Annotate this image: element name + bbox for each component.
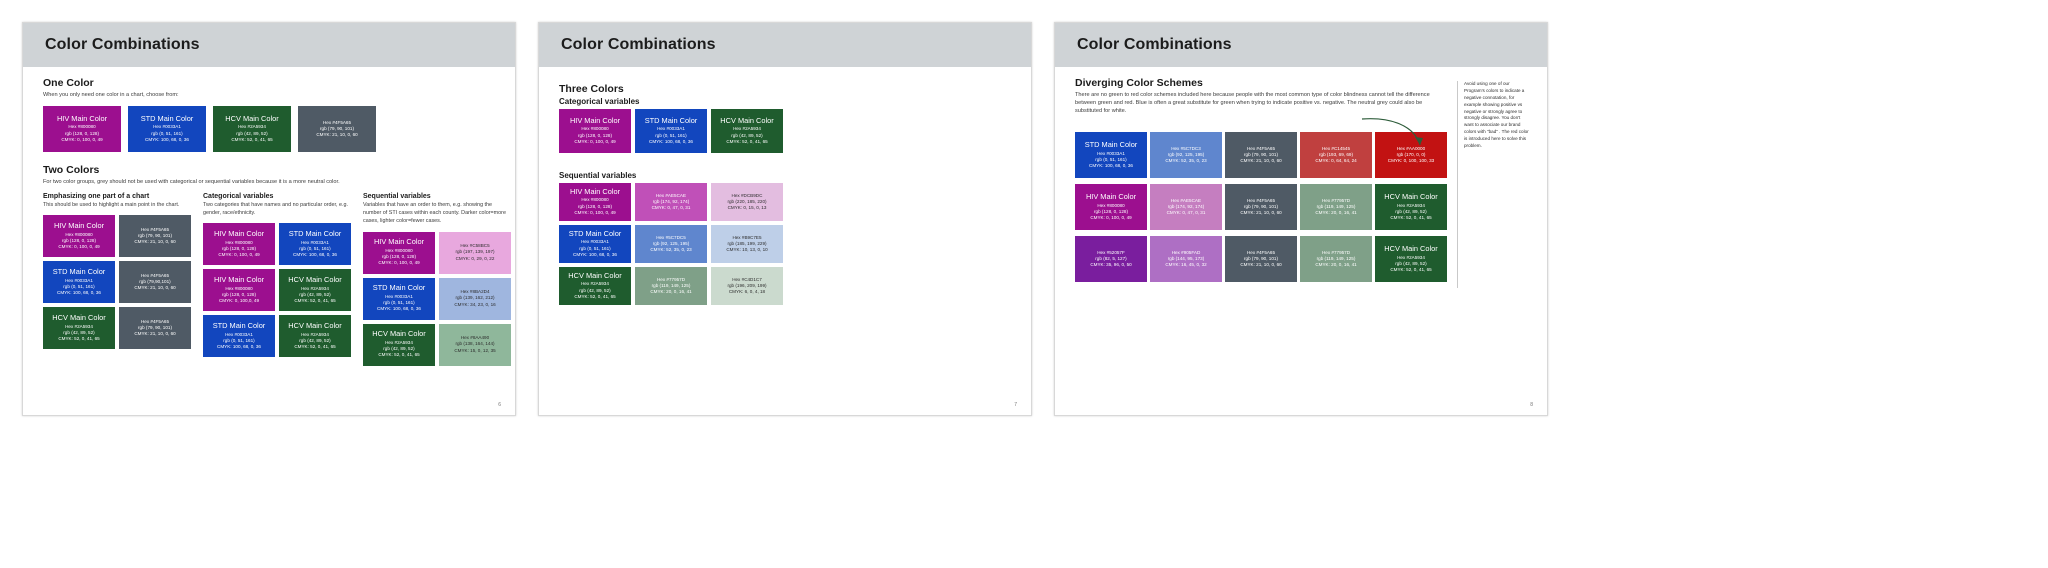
swatch-cmyk: CMYK: 0, 100,0, 49	[219, 298, 259, 304]
swatch-cmyk: CMYK: 52, 0, 41, 65	[726, 139, 767, 145]
swatch-cmyk: CMYK: 0, 47, 0, 31	[652, 205, 691, 211]
color-swatch: HCV Main ColorHex #2A5934rgb (42, 89, 52…	[711, 109, 783, 153]
color-swatch: HCV Main ColorHex #2A5934rgb (42, 89, 52…	[363, 324, 435, 366]
page-title: Color Combinations	[1077, 36, 1232, 54]
swatch-cmyk: CMYK: 100, 68, 0, 36	[649, 139, 693, 145]
swatch-cmyk: CMYK: 21, 10, 0, 60	[134, 239, 175, 245]
swatch-name: HIV Main Color	[214, 276, 264, 285]
swatch-name: HIV Main Color	[214, 230, 264, 239]
section-heading-three-colors: Three Colors	[559, 83, 1013, 95]
column-note: Variables that have an order to them, e.…	[363, 201, 511, 225]
swatch-pair: HIV Main ColorHex #800080rgb (128, 0, 12…	[203, 223, 351, 265]
swatch-name: STD Main Color	[289, 230, 342, 239]
swatch-pair: HIV Main ColorHex #800080rgb (128, 0, 12…	[363, 232, 511, 274]
swatch-cmyk: CMYK: 15, 0, 12, 35	[454, 348, 495, 354]
swatch-cmyk: CMYK: 0, 47, 0, 31	[1167, 210, 1206, 216]
three-colors-categorical-row: HIV Main ColorHex #800080rgb (128, 0, 12…	[559, 109, 1013, 153]
column-heading: Sequential variables	[363, 193, 511, 200]
slide-body: One Color When you only need one color i…	[23, 67, 515, 370]
column-note: This should be used to highlight a main …	[43, 201, 191, 209]
slide-title-band: Color Combinations	[1055, 23, 1547, 67]
color-swatch: HCV Main ColorHex #2A5934rgb (42, 89, 52…	[279, 315, 351, 357]
color-swatch: STD Main ColorHex #0033A1rgb (0, 51, 161…	[559, 225, 631, 263]
swatch-cmyk: CMYK: 0, 64, 64, 24	[1315, 158, 1356, 164]
section-heading-two-colors: Two Colors	[43, 164, 497, 176]
color-swatch: Hex #4F5A65rgb (79, 90, 101)CMYK: 21, 10…	[119, 307, 191, 349]
color-swatch: Hex #77957Drgb (119, 149, 125)CMYK: 20, …	[1300, 184, 1372, 230]
swatch-name: HIV Main Color	[374, 238, 424, 247]
color-swatch: HIV Main ColorHex #800080rgb (128, 0, 12…	[559, 183, 631, 221]
swatch-cmyk: CMYK: 52, 0, 41, 65	[1390, 267, 1431, 273]
color-swatch: HCV Main ColorHex #2A5934rgb (42, 89, 52…	[43, 307, 115, 349]
color-swatch: Hex #4F5A65rgb (79, 90, 101)CMYK: 21, 10…	[119, 215, 191, 257]
section-note-diverging: There are no green to red color schemes …	[1075, 91, 1447, 115]
color-swatch: Hex #77957Drgb (119, 149, 125)CMYK: 20, …	[1300, 236, 1372, 282]
swatch-pair: HIV Main ColorHex #800080rgb (128, 0, 12…	[43, 215, 191, 257]
callout-text: Avoid using one of our Program's colors …	[1457, 81, 1529, 288]
color-swatch: Hex #4F5A65rgb (79, 90, 101)CMYK: 21, 10…	[1225, 184, 1297, 230]
color-swatch: Hex #77957Drgb (119, 149, 125)CMYK: 20, …	[635, 267, 707, 305]
color-swatch: HIV Main ColorHex #800080rgb (128, 0, 12…	[43, 106, 121, 152]
swatch-name: STD Main Color	[1085, 141, 1138, 150]
color-swatch: Hex #C4D1C7rgb (196, 209, 199)CMYK: 6, 0…	[711, 267, 783, 305]
page-title: Color Combinations	[561, 36, 716, 54]
swatch-cmyk: CMYK: 0, 100, 0, 49	[218, 252, 259, 258]
swatch-cmyk: CMYK: 34, 23, 0, 16	[454, 302, 495, 308]
color-swatch: STD Main ColorHex #0033A1rgb (0, 51, 161…	[43, 261, 115, 303]
swatch-pair: STD Main ColorHex #0033A1rgb (0, 51, 161…	[43, 261, 191, 303]
swatch-row: Hex #52057Frgb (82, 5, 127)CMYK: 35, 96,…	[1075, 236, 1447, 282]
color-swatch: Hex #905FADrgb (144, 95, 173)CMYK: 16, 4…	[1150, 236, 1222, 282]
label-sequential-variables: Sequential variables	[559, 171, 1013, 180]
color-swatch: Hex #4F5A65rgb (79, 90, 101)CMYK: 21, 10…	[298, 106, 376, 152]
column-heading: Emphasizing one part of a chart	[43, 193, 191, 200]
swatch-name: HIV Main Color	[57, 115, 107, 124]
swatch-cmyk: CMYK: 21, 10, 0, 60	[134, 331, 175, 337]
swatch-pair: STD Main ColorHex #0033A1rgb (0, 51, 161…	[363, 278, 511, 320]
color-swatch: HIV Main ColorHex #800080rgb (128, 0, 12…	[43, 215, 115, 257]
swatch-cmyk: CMYK: 52, 0, 41, 65	[378, 352, 419, 358]
swatch-cmyk: CMYK: 52, 35, 0, 23	[1165, 158, 1206, 164]
color-swatch: HIV Main ColorHex #800080rgb (128, 0, 12…	[203, 269, 275, 311]
color-swatch: HIV Main ColorHex #800080rgb (128, 0, 12…	[363, 232, 435, 274]
swatch-name: HCV Main Color	[288, 276, 341, 285]
swatch-cmyk: CMYK: 0, 100, 0, 49	[378, 260, 419, 266]
color-swatch: STD Main ColorHex #0033A1rgb (0, 51, 161…	[1075, 132, 1147, 178]
swatch-cmyk: CMYK: 52, 0, 41, 65	[294, 344, 335, 350]
swatch-cmyk: CMYK: 0, 100, 0, 49	[61, 137, 102, 143]
swatch-cmyk: CMYK: 21, 10, 0, 60	[134, 285, 175, 291]
slide-title-band: Color Combinations	[23, 23, 515, 67]
color-swatch: HIV Main ColorHex #800080rgb (128, 0, 12…	[1075, 184, 1147, 230]
color-swatch: Hex #8BA2D4rgb (139, 162, 212)CMYK: 34, …	[439, 278, 511, 320]
three-colors-sequential-grid: HIV Main ColorHex #800080rgb (128, 0, 12…	[559, 183, 1013, 305]
page-number: 8	[1530, 402, 1533, 408]
column-heading: Categorical variables	[203, 193, 351, 200]
swatch-row: HIV Main ColorHex #800080rgb (128, 0, 12…	[559, 183, 1013, 221]
swatch-name: HCV Main Color	[288, 322, 341, 331]
color-swatch: STD Main ColorHex #0033A1rgb (0, 51, 161…	[128, 106, 206, 152]
slide-8[interactable]: Color Combinations Diverging Color Schem…	[1054, 22, 1548, 416]
color-swatch: Hex #B9C7E5rgb (185, 199, 229)CMYK: 10, …	[711, 225, 783, 263]
slide-body: Three Colors Categorical variables HIV M…	[539, 67, 1031, 305]
color-swatch: Hex #4F5A65rgb (79, 90, 101)CMYK: 21, 10…	[1225, 132, 1297, 178]
swatch-name: HIV Main Color	[570, 117, 620, 126]
swatch-cmyk: CMYK: 100, 68, 0, 36	[1089, 163, 1133, 169]
swatch-name: STD Main Color	[213, 322, 266, 331]
swatch-cmyk: CMYK: 20, 0, 16, 41	[1315, 262, 1356, 268]
swatch-cmyk: CMYK: 6, 0, 4, 18	[729, 289, 765, 295]
swatch-cmyk: CMYK: 21, 10, 0, 60	[1240, 210, 1281, 216]
slide-title-band: Color Combinations	[539, 23, 1031, 67]
color-swatch: Hex #4F5A65rgb (79,90,101)CMYK: 21, 10, …	[119, 261, 191, 303]
swatch-cmyk: CMYK: 0, 100, 0, 49	[574, 139, 615, 145]
color-swatch: HCV Main ColorHex #2A5934rgb (42, 89, 52…	[213, 106, 291, 152]
two-color-column: Emphasizing one part of a chartThis shou…	[43, 193, 191, 369]
curved-arrow-icon	[1360, 115, 1430, 155]
swatch-pair: STD Main ColorHex #0033A1rgb (0, 51, 161…	[203, 315, 351, 357]
swatch-cmyk: CMYK: 52, 0, 41, 65	[294, 298, 335, 304]
one-color-swatch-strip: HIV Main ColorHex #800080rgb (128, 0, 12…	[43, 106, 497, 152]
color-swatch: HIV Main ColorHex #800080rgb (128, 0, 12…	[559, 109, 631, 153]
swatch-cmyk: CMYK: 0, 100, 0, 49	[58, 244, 99, 250]
swatch-cmyk: CMYK: 0, 100, 100, 33	[1388, 158, 1434, 164]
swatch-pair: HIV Main ColorHex #800080rgb (128, 0, 12…	[203, 269, 351, 311]
swatch-row: HCV Main ColorHex #2A5934rgb (42, 89, 52…	[559, 267, 1013, 305]
section-heading-one-color: One Color	[43, 77, 497, 89]
color-swatch: HCV Main ColorHex #2A5934rgb (42, 89, 52…	[559, 267, 631, 305]
swatch-cmyk: CMYK: 52, 0, 41, 65	[231, 137, 272, 143]
two-color-column: Categorical variablesTwo categories that…	[203, 193, 351, 369]
swatch-name: HCV Main Color	[225, 115, 278, 124]
swatch-cmyk: CMYK: 0, 29, 0, 22	[456, 256, 495, 262]
slide-6[interactable]: Color Combinations One Color When you on…	[22, 22, 516, 416]
swatch-cmyk: CMYK: 20, 0, 16, 41	[650, 289, 691, 295]
page-number: 7	[1014, 402, 1017, 408]
page-number: 6	[498, 402, 501, 408]
swatch-name: STD Main Color	[645, 117, 698, 126]
swatch-cmyk: CMYK: 10, 13, 0, 10	[726, 247, 767, 253]
swatch-cmyk: CMYK: 100, 68, 0, 36	[573, 252, 617, 258]
color-swatch: Hex #5C7DC5rgb (92, 125, 195)CMYK: 52, 3…	[635, 225, 707, 263]
color-swatch: HCV Main ColorHex #2A5934rgb (42, 89, 52…	[1375, 184, 1447, 230]
swatch-name: HCV Main Color	[1384, 245, 1437, 254]
swatch-name: STD Main Color	[53, 268, 106, 277]
column-note: Two categories that have names and no pa…	[203, 201, 351, 217]
swatch-cmyk: CMYK: 21, 10, 0, 60	[1240, 158, 1281, 164]
page-title: Color Combinations	[45, 36, 200, 54]
swatch-pair: HCV Main ColorHex #2A5934rgb (42, 89, 52…	[43, 307, 191, 349]
swatch-cmyk: CMYK: 21, 10, 0, 60	[316, 132, 357, 138]
slide-body: Diverging Color Schemes There are no gre…	[1055, 67, 1547, 288]
color-swatch: Hex #DCB9DCrgb (220, 185, 220)CMYK: 0, 1…	[711, 183, 783, 221]
swatch-name: STD Main Color	[569, 230, 622, 239]
color-swatch: STD Main ColorHex #0033A1rgb (0, 51, 161…	[203, 315, 275, 357]
swatch-cmyk: CMYK: 21, 10, 0, 60	[1240, 262, 1281, 268]
swatch-name: HIV Main Color	[570, 188, 620, 197]
color-swatch: STD Main ColorHex #0033A1rgb (0, 51, 161…	[635, 109, 707, 153]
color-swatch: Hex #52057Frgb (82, 5, 127)CMYK: 35, 96,…	[1075, 236, 1147, 282]
swatch-cmyk: CMYK: 20, 0, 16, 41	[1315, 210, 1356, 216]
two-color-column: Sequential variablesVariables that have …	[363, 193, 511, 369]
swatch-cmyk: CMYK: 100, 68, 0, 36	[293, 252, 337, 258]
color-swatch: HCV Main ColorHex #2A5934rgb (42, 89, 52…	[1375, 236, 1447, 282]
swatch-cmyk: CMYK: 100, 68, 0, 36	[57, 290, 101, 296]
two-colors-columns: Emphasizing one part of a chartThis shou…	[43, 193, 497, 369]
swatch-cmyk: CMYK: 52, 0, 41, 65	[574, 294, 615, 300]
swatch-cmyk: CMYK: 0, 100, 0, 49	[1090, 215, 1131, 221]
swatch-row: HIV Main ColorHex #800080rgb (128, 0, 12…	[1075, 184, 1447, 230]
swatch-name: HCV Main Color	[720, 117, 773, 126]
section-note-one-color: When you only need one color in a chart,…	[43, 91, 497, 99]
section-note-two-colors: For two color groups, grey should not be…	[43, 178, 497, 186]
swatch-name: HCV Main Color	[52, 314, 105, 323]
swatch-cmyk: CMYK: 0, 15, 0, 13	[728, 205, 767, 211]
swatch-cmyk: CMYK: 16, 45, 0, 32	[1165, 262, 1206, 268]
swatch-cmyk: CMYK: 100, 68, 0, 36	[145, 137, 189, 143]
swatch-cmyk: CMYK: 52, 0, 41, 65	[1390, 215, 1431, 221]
section-heading-diverging: Diverging Color Schemes	[1075, 77, 1447, 89]
swatch-pair: HCV Main ColorHex #2A5934rgb (42, 89, 52…	[363, 324, 511, 366]
swatch-row: STD Main ColorHex #0033A1rgb (0, 51, 161…	[559, 225, 1013, 263]
color-swatch: HIV Main ColorHex #800080rgb (128, 0, 12…	[203, 223, 275, 265]
swatch-name: HCV Main Color	[372, 330, 425, 339]
color-swatch: Hex #4F5A65rgb (79, 90, 101)CMYK: 21, 10…	[1225, 236, 1297, 282]
swatch-name: HCV Main Color	[568, 272, 621, 281]
color-swatch: STD Main ColorHex #0033A1rgb (0, 51, 161…	[363, 278, 435, 320]
swatch-name: HIV Main Color	[1086, 193, 1136, 202]
swatch-cmyk: CMYK: 52, 0, 41, 65	[58, 336, 99, 342]
swatch-cmyk: CMYK: 52, 35, 0, 23	[650, 247, 691, 253]
swatch-cmyk: CMYK: 35, 96, 0, 50	[1090, 262, 1131, 268]
swatch-name: STD Main Color	[141, 115, 194, 124]
color-swatch: Hex #C58BC5rgb (197, 139, 197)CMYK: 0, 2…	[439, 232, 511, 274]
color-swatch: Hex #AE5CAErgb (174, 92, 174)CMYK: 0, 47…	[635, 183, 707, 221]
color-swatch: STD Main ColorHex #0033A1rgb (0, 51, 161…	[279, 223, 351, 265]
color-swatch: Hex #8AA490rgb (138, 164, 144)CMYK: 15, …	[439, 324, 511, 366]
swatch-name: STD Main Color	[373, 284, 426, 293]
color-swatch: Hex #AE5CAErgb (174, 92, 174)CMYK: 0, 47…	[1150, 184, 1222, 230]
swatch-cmyk: CMYK: 100, 68, 0, 36	[217, 344, 261, 350]
slide-7[interactable]: Color Combinations Three Colors Categori…	[538, 22, 1032, 416]
swatch-name: HCV Main Color	[1384, 193, 1437, 202]
color-swatch: Hex #5C7DC3rgb (92, 125, 195)CMYK: 52, 3…	[1150, 132, 1222, 178]
color-swatch: HCV Main ColorHex #2A5934rgb (42, 89, 52…	[279, 269, 351, 311]
label-categorical-variables: Categorical variables	[559, 97, 1013, 106]
swatch-cmyk: CMYK: 100, 68, 0, 36	[377, 306, 421, 312]
swatch-cmyk: CMYK: 0, 100, 0, 49	[574, 210, 615, 216]
swatch-name: HIV Main Color	[54, 222, 104, 231]
slide-deck: Color Combinations One Color When you on…	[0, 0, 2048, 568]
